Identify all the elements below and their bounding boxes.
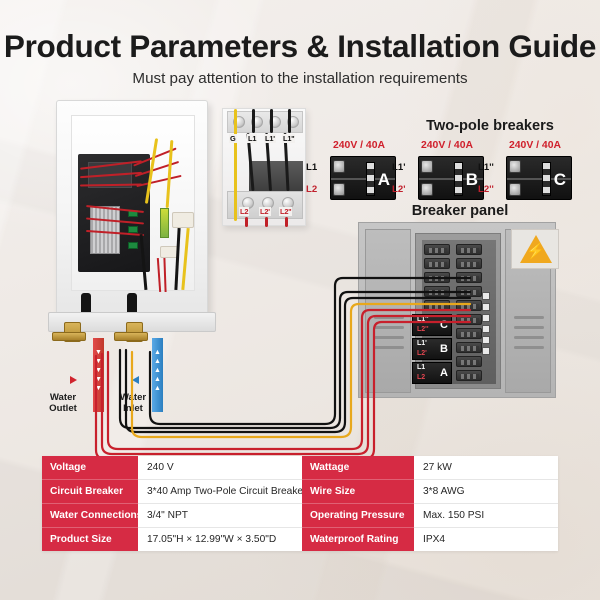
installed-c-l2: L2'' xyxy=(417,326,429,333)
breaker-c-letter: C xyxy=(554,170,566,190)
panel-door-left[interactable] xyxy=(365,229,411,393)
closeup-label-l1p: L1' xyxy=(264,134,276,143)
breaker-c-lug-bottom xyxy=(509,183,521,196)
hazard-label-plate: ⚡ xyxy=(511,229,559,269)
relay-2 xyxy=(128,226,138,233)
spec-value-voltage: 240 V xyxy=(138,456,302,480)
spec-key-water-connections: Water Connections xyxy=(42,504,138,528)
spec-value-waterproof-rating: IPX4 xyxy=(414,528,558,551)
breaker-b-l2-label: L2' xyxy=(392,184,405,195)
wire-connector xyxy=(172,212,194,228)
spec-value-product-size: 17.05"H × 12.99"W × 3.50"D xyxy=(138,528,302,551)
panel-busbar-area: L1'' L2'' C L1' L2' B L1 L2 A xyxy=(422,240,496,384)
heater-body xyxy=(56,100,208,322)
closeup-label-g: G xyxy=(229,134,237,143)
water-heater-illustration xyxy=(48,100,220,348)
line-wire-1 xyxy=(252,109,255,133)
flow-arrows-up: ▲▲▲▲▲ xyxy=(152,348,163,393)
closeup-label-l2pp: L2'' xyxy=(279,207,292,216)
spec-key-wire-size: Wire Size xyxy=(302,480,414,504)
installed-a-l2: L2 xyxy=(417,374,425,381)
breaker-a-switch[interactable] xyxy=(366,162,375,196)
installed-a-l1: L1 xyxy=(417,364,425,371)
breaker-b-lug-top xyxy=(421,160,433,173)
yellow-wire xyxy=(181,228,189,290)
breaker-b-switch[interactable] xyxy=(454,162,463,196)
red-wire xyxy=(163,258,167,292)
breaker-b-rating: 240V / 40A xyxy=(410,140,484,151)
water-outlet-line2: Outlet xyxy=(49,403,77,414)
breaker-a-rating: 240V / 40A xyxy=(322,140,396,151)
closeup-label-l1: L1 xyxy=(247,134,257,143)
breaker-c-l1-label: L1'' xyxy=(478,162,494,173)
breaker-c-l2-label: L2'' xyxy=(478,184,494,195)
water-inlet-label: Water Inlet xyxy=(110,392,156,414)
installed-breaker-a[interactable]: L1 L2 A xyxy=(412,362,452,384)
spec-value-wire-size: 3*8 AWG xyxy=(414,480,558,504)
breaker-b-body: B xyxy=(418,156,484,200)
breaker-a-l1-label: L1 xyxy=(306,162,317,173)
page-subtitle: Must pay attention to the installation r… xyxy=(0,70,600,87)
closeup-label-l1pp: L1'' xyxy=(282,134,295,143)
outlet-direction-arrow xyxy=(70,376,77,384)
breaker-panel-title: Breaker panel xyxy=(360,203,560,219)
l2-wire xyxy=(245,217,248,227)
installed-a-letter: A xyxy=(440,367,448,379)
water-inlet-line1: Water xyxy=(120,392,146,403)
flow-arrows-down: ▼▼▼▼▼ xyxy=(93,348,104,393)
spec-value-operating-pressure: Max. 150 PSI xyxy=(414,504,558,528)
installed-c-letter: C xyxy=(440,319,448,331)
fuse xyxy=(160,208,169,238)
breaker-panel: ⚡ L1'' L2'' C xyxy=(358,222,556,398)
page-title: Product Parameters & Installation Guide xyxy=(0,28,600,65)
neutral-bar xyxy=(482,292,492,358)
closeup-upper-terminal-strip xyxy=(227,111,303,133)
breaker-a-lug-bottom xyxy=(333,183,345,196)
installed-b-l1: L1' xyxy=(417,340,427,347)
water-inlet-line2: Inlet xyxy=(123,403,143,414)
breaker-c-body: C xyxy=(506,156,572,200)
spec-value-water-connections: 3/4" NPT xyxy=(138,504,302,528)
l2pp-wire xyxy=(285,217,288,227)
installed-c-l1: L1'' xyxy=(417,316,429,323)
breaker-a-body: A xyxy=(330,156,396,200)
spec-key-product-size: Product Size xyxy=(42,528,138,551)
l2p-wire xyxy=(265,217,268,227)
breaker-a-l2-label: L2 xyxy=(306,184,317,195)
line-wire-2 xyxy=(270,109,273,133)
closeup-housing xyxy=(249,161,303,195)
breaker-a-letter: A xyxy=(378,170,390,190)
line-wire-3 xyxy=(288,109,291,133)
breaker-c-switch[interactable] xyxy=(542,162,551,196)
inlet-fitting xyxy=(114,332,148,341)
heater-open-cover xyxy=(71,115,195,291)
installed-b-l2: L2' xyxy=(417,350,427,357)
installed-breaker-b[interactable]: L1' L2' B xyxy=(412,338,452,360)
closeup-label-l2p: L2' xyxy=(259,207,271,216)
relay-3 xyxy=(128,242,138,249)
closeup-label-l2: L2 xyxy=(239,207,249,216)
installed-b-letter: B xyxy=(440,343,448,355)
water-outlet-label: Water Outlet xyxy=(35,392,91,414)
breaker-b-l1-label: L1' xyxy=(392,162,405,173)
spec-key-operating-pressure: Operating Pressure xyxy=(302,504,414,528)
installed-breaker-c[interactable]: L1'' L2'' C xyxy=(412,314,452,336)
panel-interior: L1'' L2'' C L1' L2' B L1 L2 A xyxy=(415,233,501,389)
spec-value-wattage: 27 kW xyxy=(414,456,558,480)
spec-key-wattage: Wattage xyxy=(302,456,414,480)
breaker-c-lug-top xyxy=(509,160,521,173)
breaker-b-letter: B xyxy=(466,170,478,190)
breaker-c-rating: 240V / 40A xyxy=(498,140,572,151)
spec-key-circuit-breaker: Circuit Breaker xyxy=(42,480,138,504)
two-pole-breakers-title: Two-pole breakers xyxy=(390,118,590,134)
ground-wire xyxy=(234,109,237,221)
spec-key-voltage: Voltage xyxy=(42,456,138,480)
terminal-closeup: G L1 L1' L1'' L2 L2' L2'' xyxy=(222,108,306,226)
outlet-fitting xyxy=(52,332,86,341)
spec-value-circuit-breaker: 3*40 Amp Two-Pole Circuit Breaker xyxy=(138,480,302,504)
spec-key-waterproof-rating: Waterproof Rating xyxy=(302,528,414,551)
spec-table: Voltage 240 V Wattage 27 kW Circuit Brea… xyxy=(42,456,558,551)
inlet-direction-arrow xyxy=(132,376,139,384)
lightning-bolt-icon: ⚡ xyxy=(526,244,545,259)
breaker-a-lug-top xyxy=(333,160,345,173)
water-outlet-line1: Water xyxy=(50,392,76,403)
breaker-b-lug-bottom xyxy=(421,183,433,196)
black-wire xyxy=(174,228,180,290)
hot-water-pipe: ▼▼▼▼▼ xyxy=(93,338,104,412)
red-wire xyxy=(157,258,162,292)
